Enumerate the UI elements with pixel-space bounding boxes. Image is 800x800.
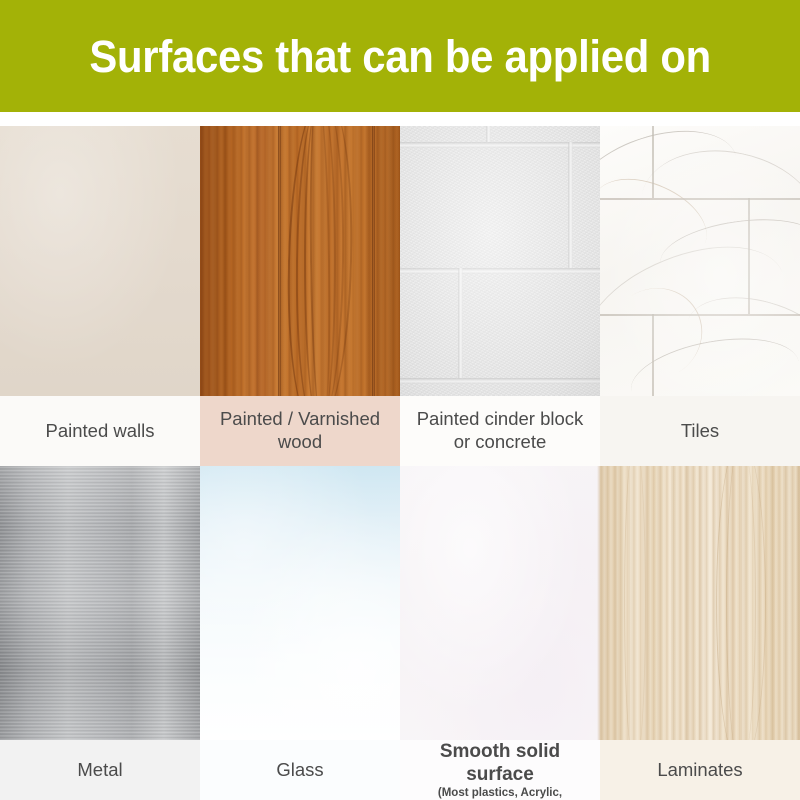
glass-reflection [200, 466, 400, 740]
surface-card-smooth-solid-surface: Smooth solid surface (Most plastics, Acr… [400, 466, 600, 800]
surfaces-poster: Surfaces that can be applied on Painted … [0, 0, 800, 800]
caption-laminates: Laminates [600, 740, 800, 800]
swatch-smooth-solid-surface [400, 466, 600, 740]
swatch-painted-varnished-wood [200, 126, 400, 396]
swatch-painted-walls [0, 126, 200, 396]
caption-tiles: Tiles [600, 396, 800, 466]
swatch-metal [0, 466, 200, 740]
caption-painted-varnished-wood: Painted / Varnished wood [200, 396, 400, 466]
surfaces-grid: Painted walls Painted / Varnished wood [0, 126, 800, 800]
caption-label: Smooth solid surface [406, 740, 594, 786]
surface-card-glass: Glass [200, 466, 400, 800]
caption-metal: Metal [0, 740, 200, 800]
caption-smooth-solid-surface: Smooth solid surface (Most plastics, Acr… [400, 740, 600, 800]
caption-painted-walls: Painted walls [0, 396, 200, 466]
caption-label: Metal [77, 759, 122, 782]
swatch-laminates [600, 466, 800, 740]
caption-label: Painted / Varnished wood [206, 408, 394, 453]
surface-card-tiles: Tiles [600, 126, 800, 466]
block-vignette [400, 126, 600, 396]
laminate-shading [600, 466, 800, 740]
surface-card-painted-cinder-block: Painted cinder block or concrete [400, 126, 600, 466]
caption-painted-cinder-block: Painted cinder block or concrete [400, 396, 600, 466]
caption-label: Tiles [681, 420, 719, 443]
caption-label: Laminates [657, 759, 742, 782]
surface-card-metal: Metal [0, 466, 200, 800]
header-banner: Surfaces that can be applied on [0, 0, 800, 112]
caption-label: Glass [276, 759, 323, 782]
swatch-painted-cinder-block [400, 126, 600, 396]
swatch-glass [200, 466, 400, 740]
caption-label: Painted walls [45, 420, 154, 443]
metal-sheen [0, 466, 200, 740]
surface-card-painted-varnished-wood: Painted / Varnished wood [200, 126, 400, 466]
wood-shading [200, 126, 400, 396]
solid-surface-sheen [400, 466, 600, 740]
swatch-tiles [600, 126, 800, 396]
page-title: Surfaces that can be applied on [89, 34, 711, 79]
caption-glass: Glass [200, 740, 400, 800]
caption-sublabel: (Most plastics, Acrylic, PVC,PE,PP) [406, 787, 594, 800]
caption-label: Painted cinder block or concrete [406, 408, 594, 453]
surface-card-laminates: Laminates [600, 466, 800, 800]
surface-card-painted-walls: Painted walls [0, 126, 200, 466]
marble-haze [600, 126, 800, 396]
